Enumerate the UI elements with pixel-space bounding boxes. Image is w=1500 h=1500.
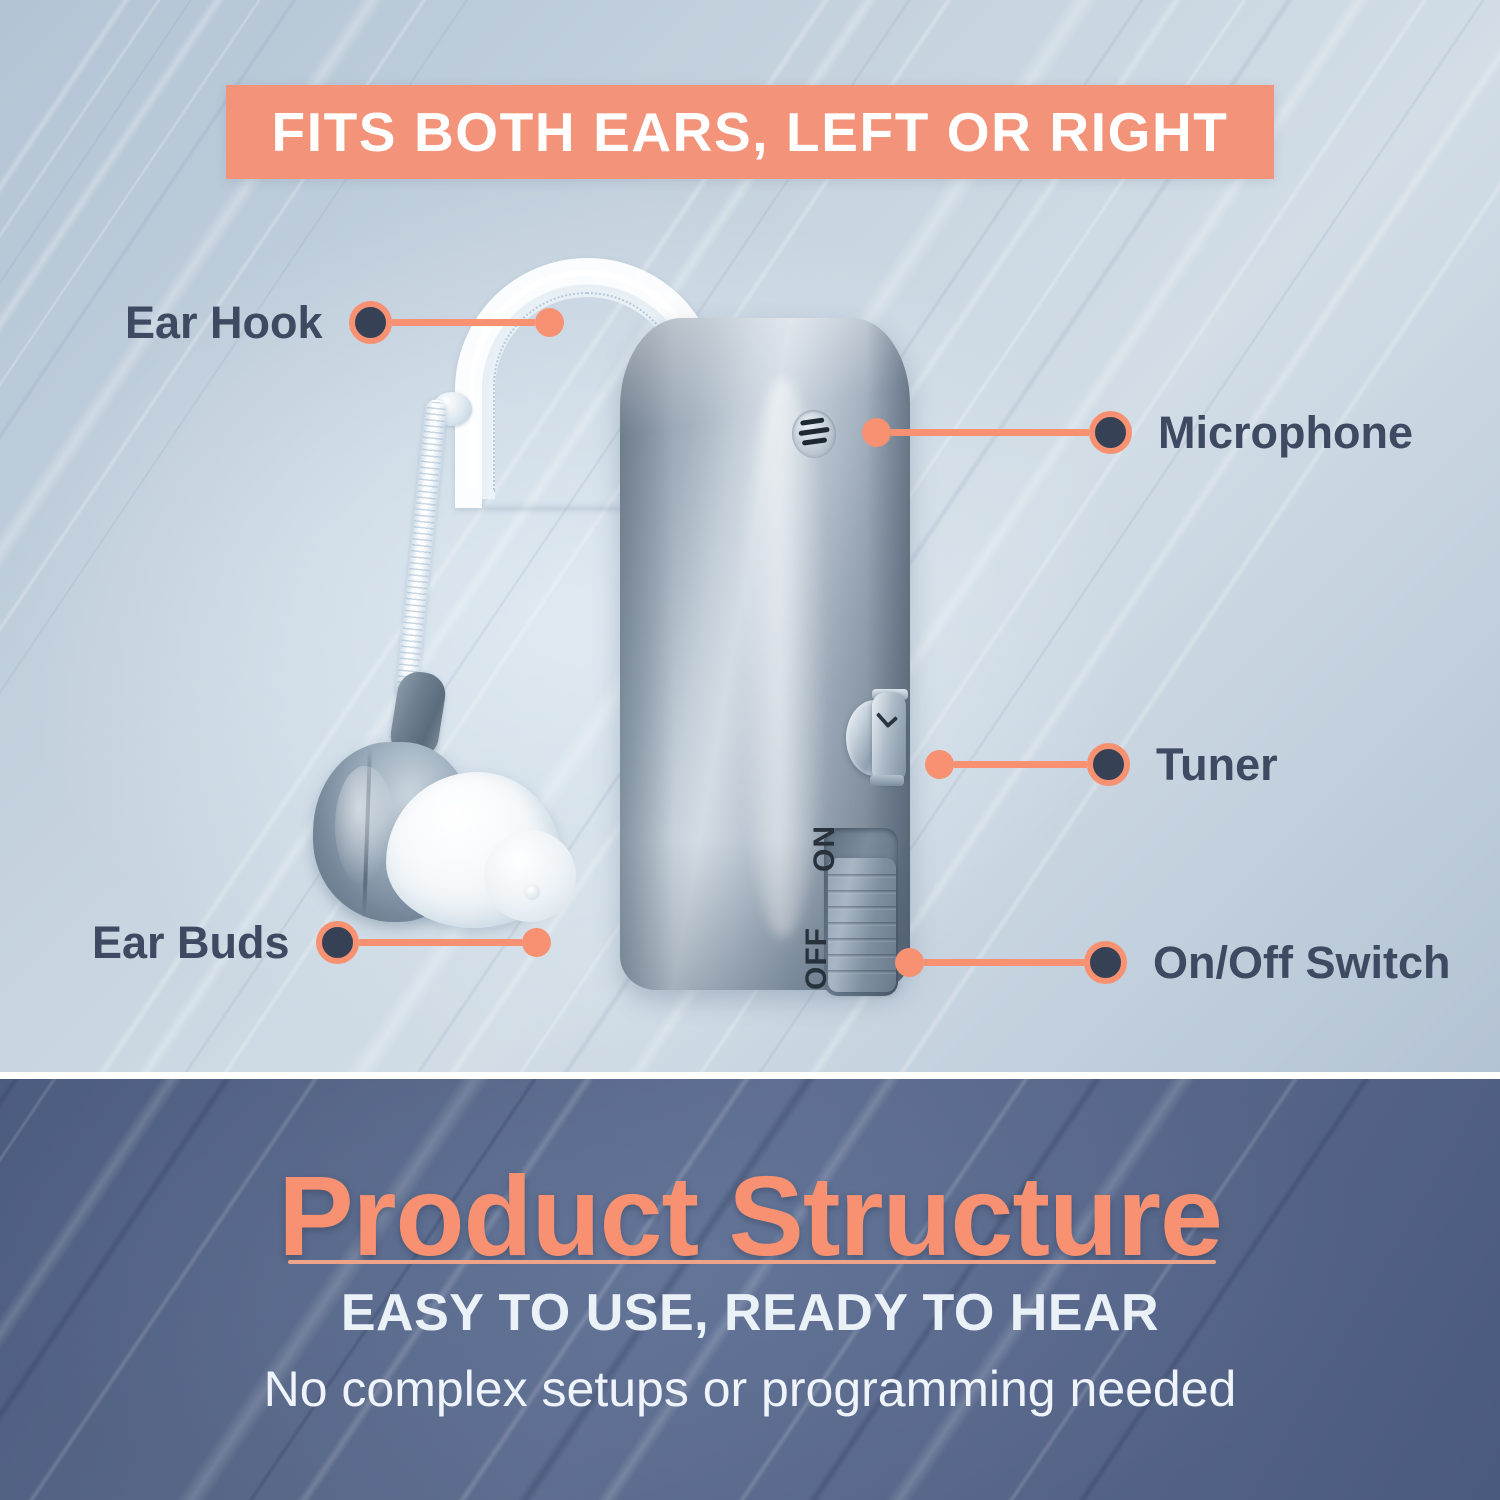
callout-label-tuner: Tuner	[1156, 742, 1278, 787]
callout-ear-hook[interactable]: Ear Hook	[125, 300, 564, 345]
callout-connector-line	[891, 429, 1089, 436]
switch-slider-part	[828, 858, 896, 992]
sound-tube-part	[373, 396, 474, 702]
callout-tuner[interactable]: Tuner	[925, 742, 1278, 787]
panel-divider-gap	[0, 1072, 1500, 1079]
callout-on-off-switch[interactable]: On/Off Switch	[895, 940, 1451, 985]
infographic-page: FITS BOTH EARS, LEFT OR RIGHT	[0, 0, 1500, 1500]
callout-target-dot-icon	[895, 948, 924, 977]
footer-subtitle-secondary: No complex setups or programming needed	[0, 1362, 1500, 1417]
footer-subtitle-primary: EASY TO USE, READY TO HEAR	[0, 1285, 1500, 1342]
hearing-aid-illustration: ON OFF	[0, 0, 1500, 1072]
callout-microphone[interactable]: Microphone	[862, 410, 1413, 455]
callout-anchor-dot-icon	[1084, 941, 1127, 984]
footer-divider-line	[288, 1260, 1216, 1264]
callout-anchor-dot-icon	[1087, 743, 1130, 786]
callout-label-ear-hook: Ear Hook	[125, 300, 323, 345]
callout-target-dot-icon	[925, 750, 954, 779]
footer-title: Product Structure	[0, 1160, 1500, 1273]
product-structure-panel: Product Structure EASY TO USE, READY TO …	[0, 1079, 1500, 1500]
callout-connector-line	[392, 319, 535, 326]
callout-anchor-dot-icon	[1089, 411, 1132, 454]
device-marking-on: ON	[808, 825, 842, 872]
callout-ear-buds[interactable]: Ear Buds	[92, 920, 551, 965]
callout-target-dot-icon	[535, 308, 564, 337]
callout-connector-line	[924, 959, 1084, 966]
callout-connector-line	[954, 761, 1087, 768]
callout-label-ear-buds: Ear Buds	[92, 920, 290, 965]
tuner-knob-part	[846, 692, 908, 784]
callout-label-microphone: Microphone	[1158, 410, 1413, 455]
product-diagram-panel: FITS BOTH EARS, LEFT OR RIGHT	[0, 0, 1500, 1072]
callout-connector-line	[359, 939, 522, 946]
callout-anchor-dot-icon	[316, 921, 359, 964]
callout-label-on-off-switch: On/Off Switch	[1153, 940, 1451, 985]
callout-anchor-dot-icon	[349, 301, 392, 344]
callout-target-dot-icon	[862, 418, 891, 447]
device-marking-off: OFF	[800, 927, 834, 990]
callout-target-dot-icon	[522, 928, 551, 957]
